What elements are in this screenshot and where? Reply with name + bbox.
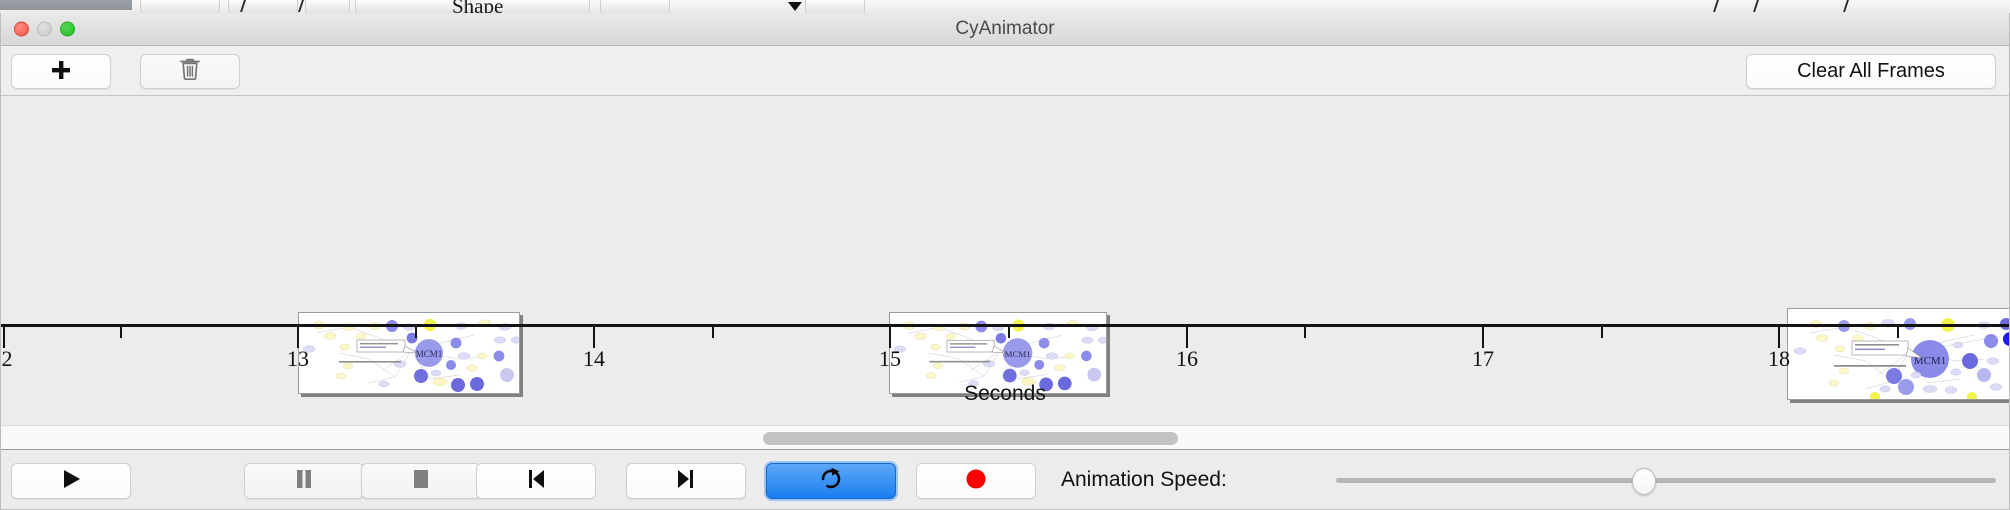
- background-chip: [140, 0, 220, 14]
- background-chip: [355, 0, 465, 14]
- axis-tick-minor: [1304, 327, 1306, 338]
- background-window-strip: Shape: [0, 0, 2010, 14]
- background-tick-icon: [1753, 0, 1759, 12]
- axis-tick-minor: [712, 327, 714, 338]
- svg-text:MCM1: MCM1: [1005, 349, 1031, 359]
- skip-to-end-icon: [675, 467, 697, 496]
- title-bar: CyAnimator: [1, 13, 2009, 46]
- plus-icon: [49, 58, 73, 86]
- play-icon: [59, 467, 83, 496]
- skip-to-end-button[interactable]: [626, 463, 746, 499]
- background-window-dark-bar: [0, 0, 132, 10]
- transport-bar: Animation Speed:: [1, 450, 2009, 510]
- axis-tick-label: 16: [1176, 346, 1198, 372]
- record-button[interactable]: [916, 463, 1036, 499]
- axis-title: Seconds: [1, 382, 2009, 406]
- axis-tick-minor: [1897, 327, 1899, 338]
- window-title: CyAnimator: [1, 18, 2009, 40]
- axis-tick-major: [1778, 327, 1780, 348]
- axis-tick-minor: [1601, 327, 1603, 338]
- axis-tick-major: [593, 327, 595, 348]
- stop-icon: [410, 467, 432, 496]
- background-shape-label: Shape: [452, 0, 503, 14]
- loop-button[interactable]: [766, 463, 896, 499]
- animation-speed-label: Animation Speed:: [1061, 468, 1227, 492]
- cyanimator-window: CyAnimator: [0, 13, 2010, 510]
- animation-speed-slider-track[interactable]: [1336, 478, 1996, 483]
- animation-speed-slider-thumb[interactable]: [1632, 468, 1656, 495]
- axis-tick-major: [297, 327, 299, 348]
- background-tick-icon: [298, 0, 304, 12]
- axis-tick-major: [889, 327, 891, 348]
- background-chip: [600, 0, 670, 14]
- cyanimator-app: Shape CyAnimator: [0, 0, 2010, 510]
- background-chip: [228, 0, 298, 14]
- toolbar: Clear All Frames: [1, 46, 2009, 96]
- stop-button[interactable]: [361, 463, 481, 499]
- axis-tick-label: 18: [1768, 346, 1790, 372]
- svg-text:MCM1: MCM1: [416, 349, 443, 359]
- background-chip: [305, 0, 350, 14]
- delete-frame-button[interactable]: [140, 54, 240, 89]
- play-button[interactable]: [11, 463, 131, 499]
- add-frame-button[interactable]: [11, 54, 111, 89]
- skip-to-start-button[interactable]: [476, 463, 596, 499]
- skip-to-start-icon: [525, 467, 547, 496]
- background-tick-icon: [1843, 0, 1849, 12]
- axis-tick-label: 2: [2, 346, 13, 372]
- axis-tick-label: 17: [1472, 346, 1494, 372]
- axis-tick-minor: [415, 327, 417, 338]
- clear-all-frames-label: Clear All Frames: [1797, 60, 1945, 83]
- background-chip: [805, 0, 865, 14]
- axis-tick-label: 14: [583, 346, 605, 372]
- record-icon: [964, 467, 988, 496]
- axis-tick-minor: [120, 327, 122, 338]
- axis-tick-minor: [1008, 327, 1010, 338]
- background-arrow-icon: [788, 2, 802, 11]
- animation-speed-slider[interactable]: [1336, 450, 1996, 510]
- timeline-axis-line: [1, 324, 2009, 327]
- axis-tick-major: [1186, 327, 1188, 348]
- background-tick-icon: [1713, 0, 1719, 12]
- pause-icon: [293, 467, 315, 496]
- clear-all-frames-button[interactable]: Clear All Frames: [1746, 54, 1996, 89]
- timeline-area[interactable]: MCM1: [1, 96, 2009, 425]
- axis-tick-major: [1482, 327, 1484, 348]
- timeline-scrollbar[interactable]: [1, 425, 2009, 450]
- loop-icon: [818, 466, 844, 497]
- axis-tick-label: 13: [287, 346, 309, 372]
- pause-button[interactable]: [244, 463, 364, 499]
- trash-icon: [179, 57, 201, 86]
- axis-tick-label: 15: [879, 346, 901, 372]
- axis-tick-major: [3, 327, 5, 348]
- timeline-scrollbar-thumb[interactable]: [763, 432, 1178, 445]
